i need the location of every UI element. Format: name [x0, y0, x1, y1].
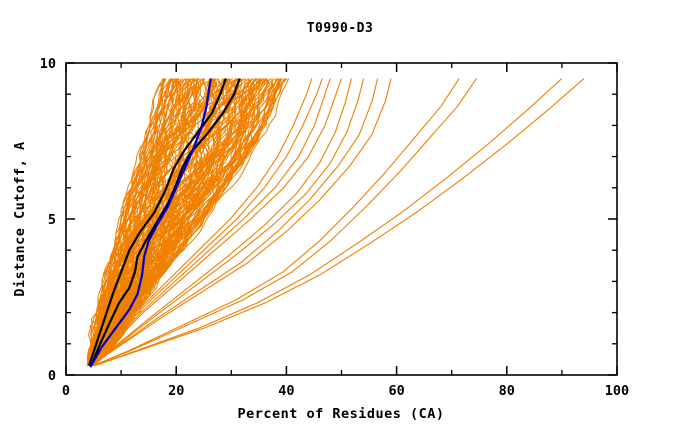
plot-figure: T0990-D3 0204060801000510 Percent of Res…: [0, 0, 680, 440]
y-tick-label: 0: [48, 368, 56, 384]
x-tick-label: 60: [388, 383, 404, 399]
page-title: T0990-D3: [307, 21, 374, 36]
x-tick-label: 20: [168, 383, 184, 399]
x-axis-label: Percent of Residues (CA): [237, 406, 444, 422]
x-tick-label: 80: [499, 383, 515, 399]
y-tick-label: 10: [40, 56, 56, 72]
y-axis-label: Distance Cutoff, A: [12, 141, 28, 296]
x-tick-label: 100: [605, 383, 629, 399]
x-tick-label: 40: [278, 383, 294, 399]
y-tick-label: 5: [48, 212, 56, 228]
x-tick-label: 0: [62, 383, 70, 399]
